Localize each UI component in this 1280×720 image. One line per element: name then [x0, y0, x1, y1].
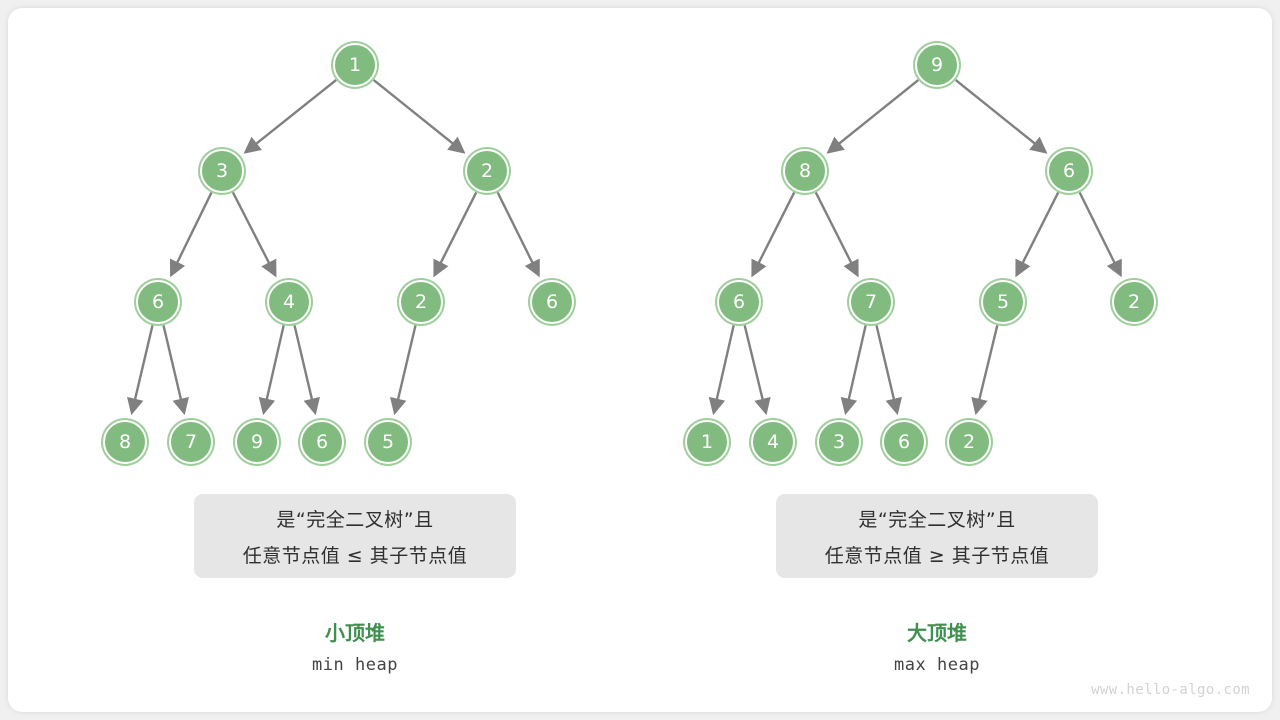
tree-node: 4 — [267, 280, 311, 324]
tree-node: 1 — [333, 43, 377, 87]
heap-definition-line: 是“完全二叉树”且 — [276, 505, 433, 532]
heap-definition-line: 任意节点值 ≥ 其子节点值 — [825, 541, 1050, 568]
heap-definition-line: 是“完全二叉树”且 — [858, 505, 1015, 532]
diagram-card: 132642687965986675214362 是“完全二叉树”且任意节点值 … — [8, 8, 1272, 712]
heap-definition-box: 是“完全二叉树”且任意节点值 ≤ 其子节点值 — [194, 494, 516, 578]
tree-node: 3 — [817, 420, 861, 464]
tree-edge — [1016, 192, 1058, 275]
tree-node: 2 — [399, 280, 443, 324]
tree-edges-layer — [8, 8, 1272, 712]
tree-node: 7 — [169, 420, 213, 464]
tree-node: 2 — [947, 420, 991, 464]
tree-node: 1 — [685, 420, 729, 464]
tree-edge — [171, 193, 211, 275]
tree-node: 9 — [915, 43, 959, 87]
tree-edge — [233, 192, 275, 275]
edge-group — [132, 80, 1121, 413]
tree-edge — [714, 325, 734, 412]
tree-node: 6 — [1047, 149, 1091, 193]
heap-definition-box: 是“完全二叉树”且任意节点值 ≥ 其子节点值 — [776, 494, 1098, 578]
heap-definition-line: 任意节点值 ≤ 其子节点值 — [243, 541, 468, 568]
tree-node: 8 — [783, 149, 827, 193]
tree-edge — [395, 325, 416, 412]
tree-node: 2 — [465, 149, 509, 193]
tree-edge — [374, 80, 464, 152]
tree-node: 2 — [1112, 280, 1156, 324]
tree-node: 6 — [530, 280, 574, 324]
heap-subtitle-min-heap: min heap — [195, 655, 515, 675]
watermark: www.hello-algo.com — [1091, 682, 1250, 698]
tree-edge — [498, 192, 539, 275]
heap-title-min-heap: 小顶堆 — [195, 617, 515, 646]
heap-title-max-heap: 大顶堆 — [777, 617, 1097, 646]
tree-edge — [245, 80, 336, 152]
tree-node: 5 — [981, 280, 1025, 324]
screenshot-stage: 132642687965986675214362 是“完全二叉树”且任意节点值 … — [0, 0, 1280, 720]
tree-node: 9 — [235, 420, 279, 464]
tree-edge — [816, 192, 858, 275]
tree-node: 6 — [882, 420, 926, 464]
tree-edge — [828, 80, 918, 152]
tree-edge — [164, 325, 185, 412]
tree-node: 4 — [751, 420, 795, 464]
tree-edge — [132, 325, 153, 412]
tree-edge — [976, 325, 997, 413]
tree-edge — [846, 325, 866, 412]
tree-node: 5 — [366, 420, 410, 464]
tree-edge — [1080, 192, 1121, 275]
tree-node: 8 — [103, 420, 147, 464]
tree-edge — [264, 325, 284, 412]
tree-node: 3 — [200, 149, 244, 193]
tree-edge — [745, 325, 766, 413]
tree-node: 6 — [136, 280, 180, 324]
tree-node: 7 — [849, 280, 893, 324]
tree-edge — [752, 192, 794, 275]
tree-edge — [295, 325, 316, 412]
tree-node: 6 — [300, 420, 344, 464]
tree-edge — [434, 192, 476, 275]
tree-edge — [877, 325, 898, 412]
tree-edge — [956, 80, 1046, 152]
tree-node: 6 — [717, 280, 761, 324]
heap-subtitle-max-heap: max heap — [777, 655, 1097, 675]
